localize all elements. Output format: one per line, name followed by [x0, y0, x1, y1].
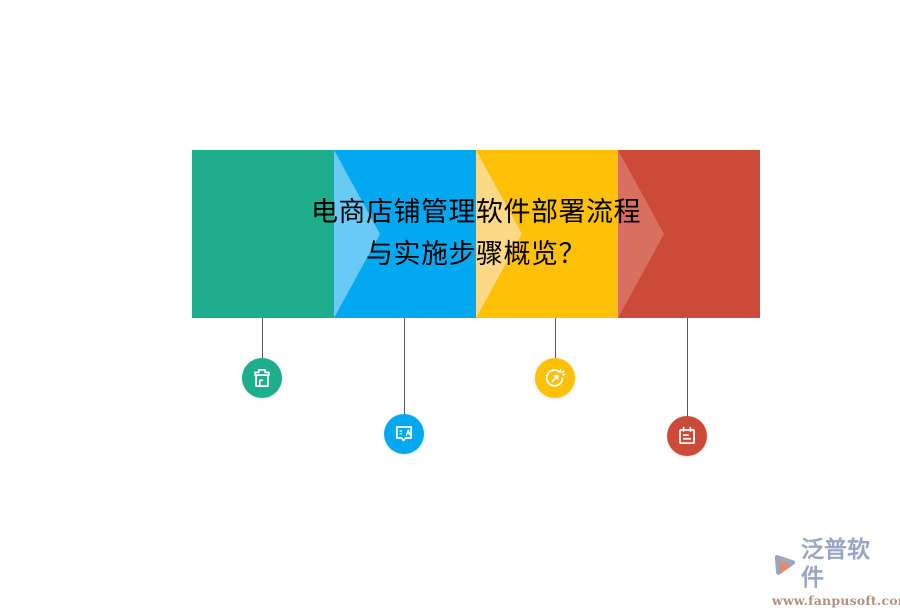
translate-bubble-icon	[393, 423, 415, 445]
store-icon	[251, 367, 273, 389]
fanpu-logo-icon	[772, 551, 798, 577]
node-performance-circle[interactable]	[535, 358, 575, 398]
watermark-url: www.fanpusoft.com	[772, 593, 892, 608]
node-translate-connector	[404, 318, 405, 416]
node-checklist-circle[interactable]	[667, 416, 707, 456]
banner: 电商店铺管理软件部署流程与实施步骤概览？	[192, 150, 760, 318]
node-store-connector	[262, 318, 263, 360]
banner-chevron-graphic	[192, 150, 760, 318]
growth-gauge-icon	[544, 367, 567, 390]
infographic-canvas: 电商店铺管理软件部署流程与实施步骤概览？	[0, 0, 900, 600]
notepad-icon	[676, 425, 698, 447]
watermark-brand-row: 泛普软件	[772, 536, 892, 592]
node-performance-connector	[555, 318, 556, 360]
node-checklist-connector	[687, 318, 688, 418]
node-store-circle[interactable]	[242, 358, 282, 398]
watermark-brand: 泛普软件	[801, 536, 892, 592]
segment-green	[192, 150, 334, 318]
watermark: 泛普软件 www.fanpusoft.com	[772, 536, 892, 590]
node-translate-circle[interactable]	[384, 414, 424, 454]
